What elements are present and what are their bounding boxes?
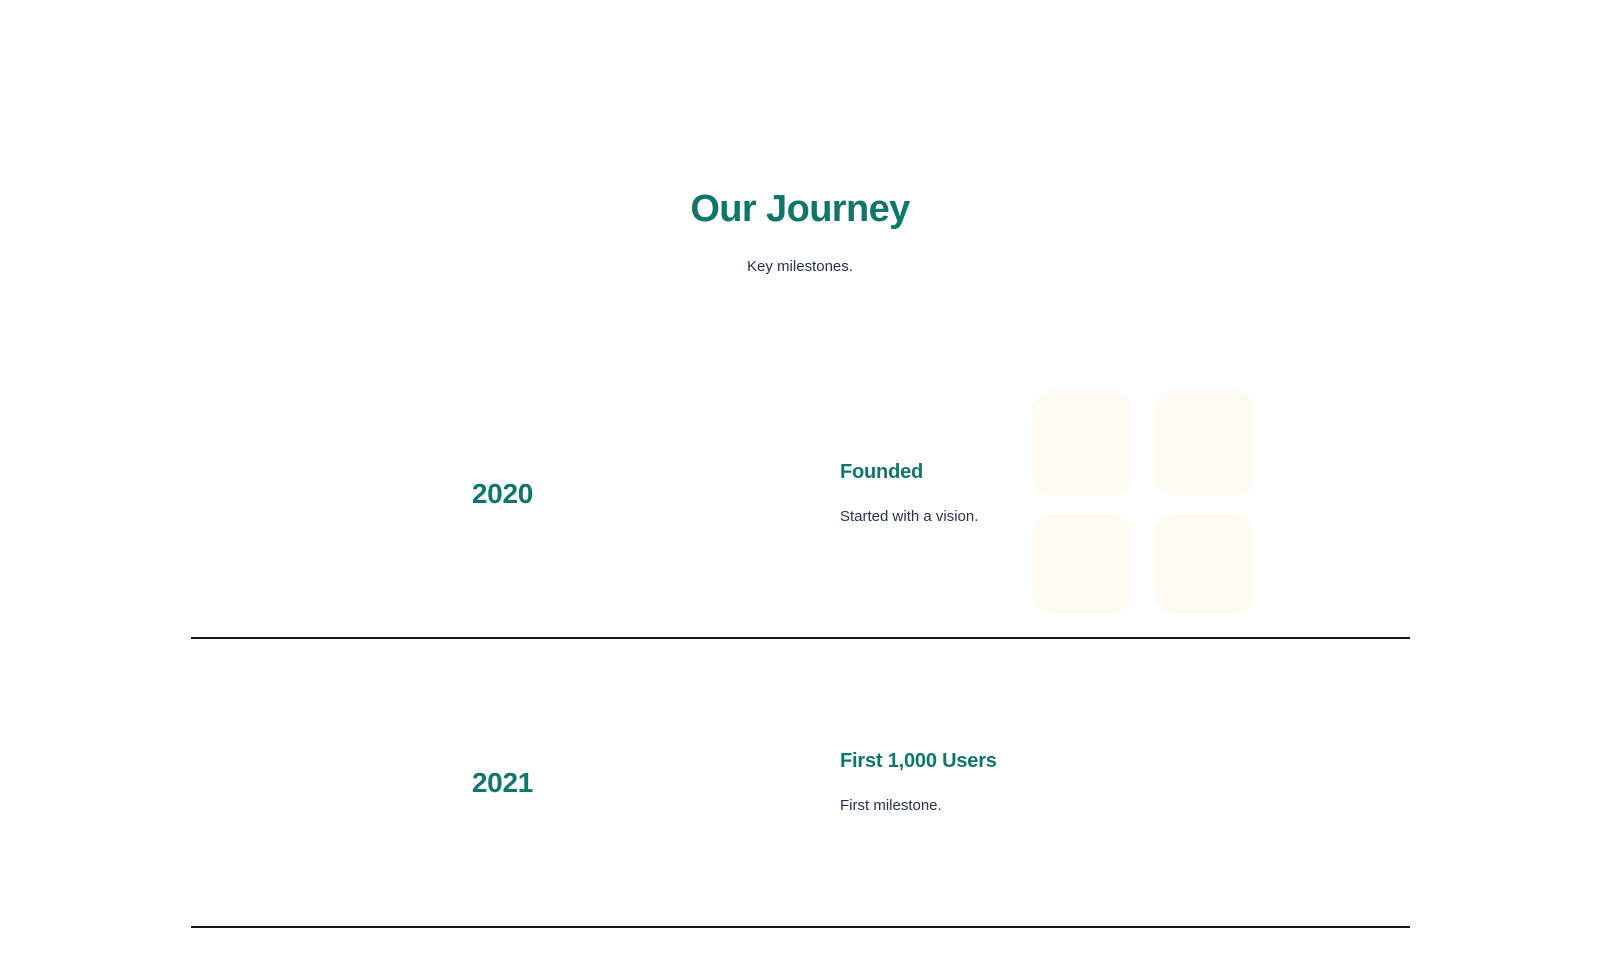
timeline-year-label: 2021: [472, 767, 533, 798]
milestone-title: First 1,000 Users: [840, 748, 1410, 774]
timeline-row[interactable]: 2021 First 1,000 Users First milestone.: [191, 639, 1410, 928]
timeline-year-column: 2021: [191, 766, 533, 800]
milestone-description: First milestone.: [840, 795, 1410, 818]
timeline-year-column: 2020: [191, 477, 533, 511]
page-title: Our Journey: [0, 186, 1600, 234]
timeline-content-column: Founded Started with a vision.: [533, 459, 1410, 529]
milestone-title: Founded: [840, 459, 1410, 485]
section-header: Our Journey Key milestones.: [0, 186, 1600, 278]
milestone-block: First 1,000 Users First milestone.: [840, 748, 1410, 818]
timeline-content-column: First 1,000 Users First milestone.: [533, 748, 1410, 818]
journey-page: Our Journey Key milestones. 2020 Founded…: [0, 0, 1600, 978]
milestone-block: Founded Started with a vision.: [840, 459, 1410, 529]
timeline-list: 2020 Founded Started with a vision. 2021: [191, 350, 1410, 928]
placeholder-tile: [1155, 515, 1255, 613]
timeline-year-label: 2020: [472, 478, 533, 509]
placeholder-tile: [1032, 515, 1132, 613]
timeline-row[interactable]: 2020 Founded Started with a vision.: [191, 350, 1410, 639]
page-subtitle: Key milestones.: [0, 256, 1600, 279]
milestone-description: Started with a vision.: [840, 506, 1410, 529]
